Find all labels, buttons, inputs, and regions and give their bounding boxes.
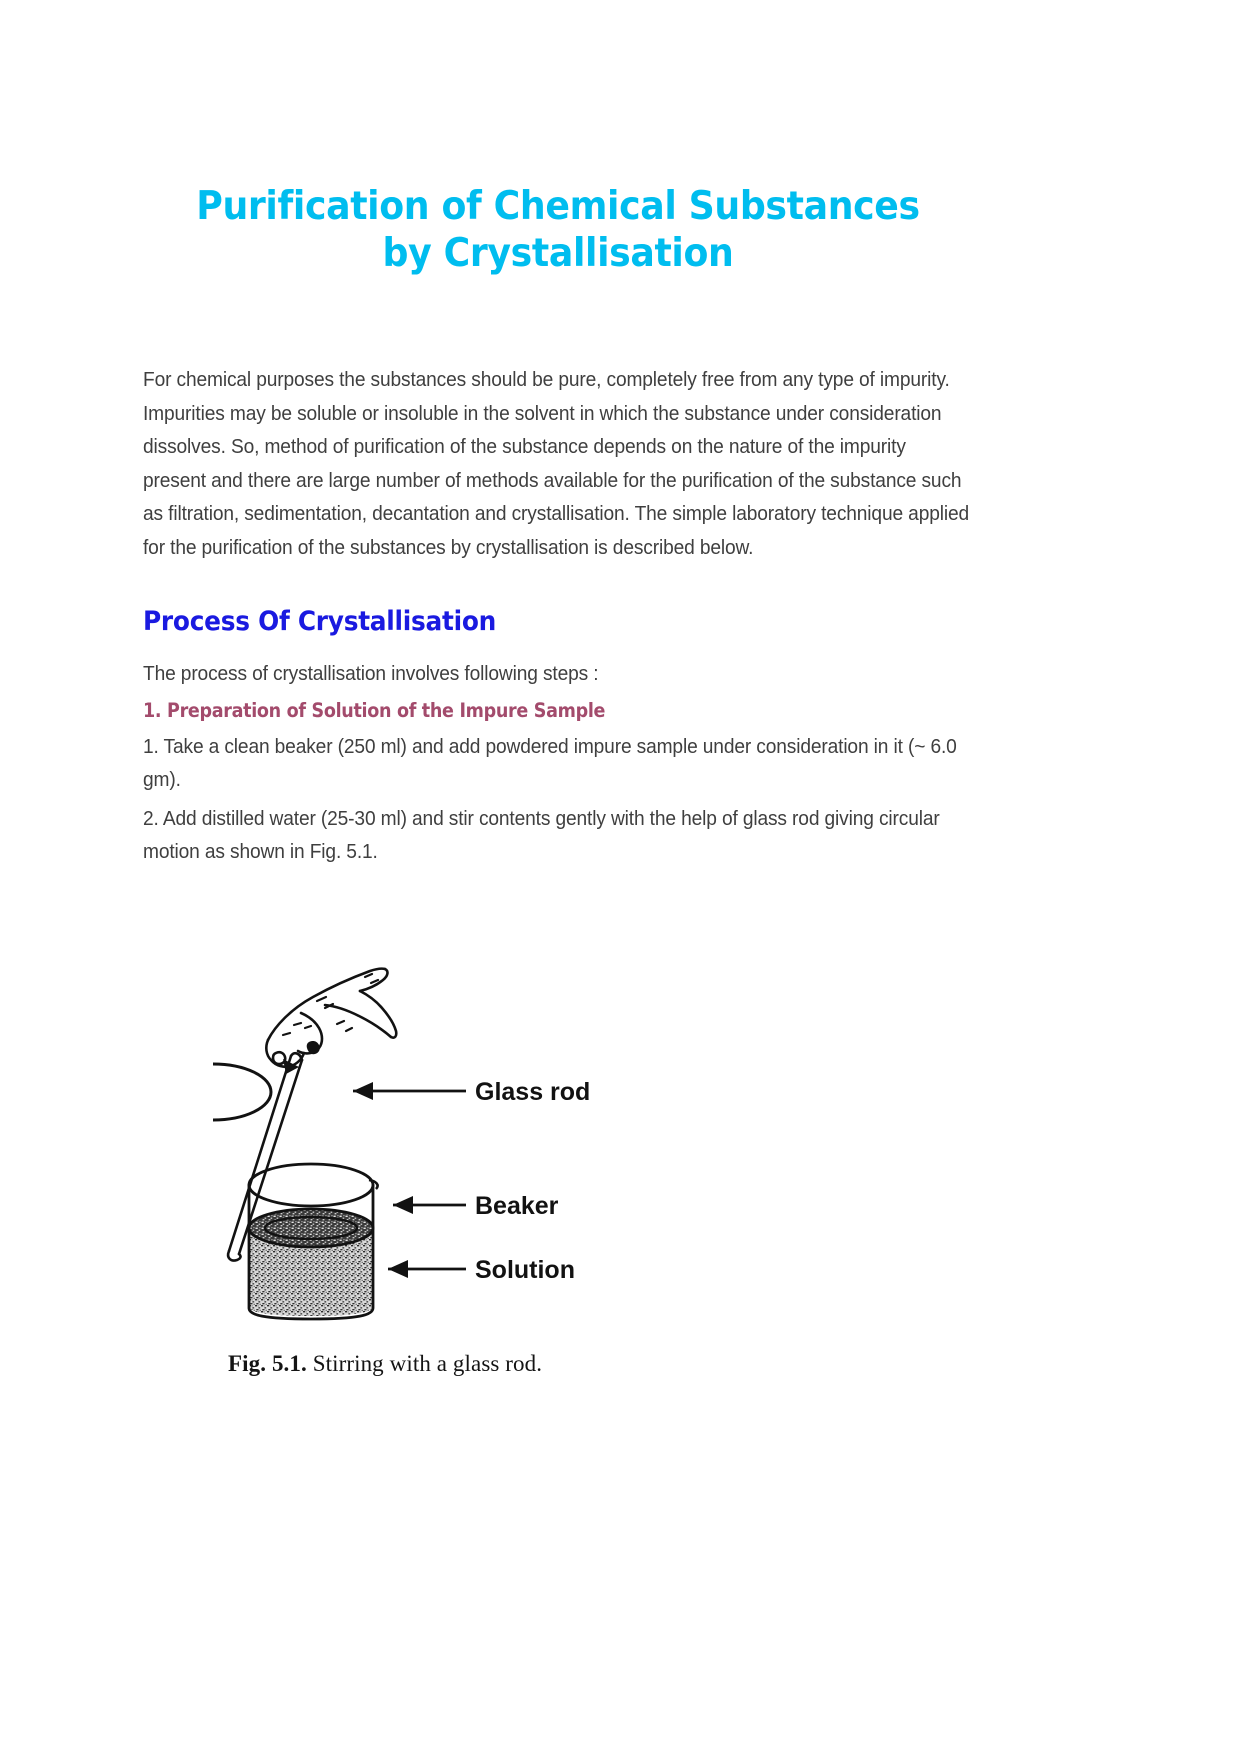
figure-caption-number: Fig. 5.1. [228,1351,307,1376]
circular-motion-arrow-icon [213,1059,299,1125]
document-page: Purification of Chemical Substances by C… [0,0,1244,1755]
figure-label-glass-rod: Glass rod [475,1078,590,1106]
intro-paragraph: For chemical purposes the substances sho… [143,277,973,565]
beaker-shape [249,1164,378,1319]
hand-icon [266,969,396,1067]
figure-caption-text: Stirring with a glass rod. [307,1351,542,1376]
section-intro-line: The process of crystallisation involves … [143,638,973,688]
document-content: Purification of Chemical Substances by C… [143,0,973,1393]
figure-label-solution: Solution [475,1256,575,1284]
section-heading-process-of-crystallisation: Process Of Crystallisation [143,565,907,638]
figure-label-beaker: Beaker [475,1192,559,1220]
step-item-1: 1. Take a clean beaker (250 ml) and add … [143,725,973,797]
step-item-2: 2. Add distilled water (25-30 ml) and st… [143,797,973,869]
figure-illustration: Glass rod Beaker Solution [213,927,633,1347]
figure-stirring-with-glass-rod: Glass rod Beaker Solution Fig. 5.1. Stir… [183,885,1013,1377]
page-title: Purification of Chemical Substances by C… [172,0,944,277]
step-title-preparation-of-solution: 1. Preparation of Solution of the Impure… [143,688,971,725]
figure-caption: Fig. 5.1. Stirring with a glass rod. [228,1347,1058,1377]
beaker-stirring-diagram: Glass rod Beaker Solution [213,927,633,1347]
